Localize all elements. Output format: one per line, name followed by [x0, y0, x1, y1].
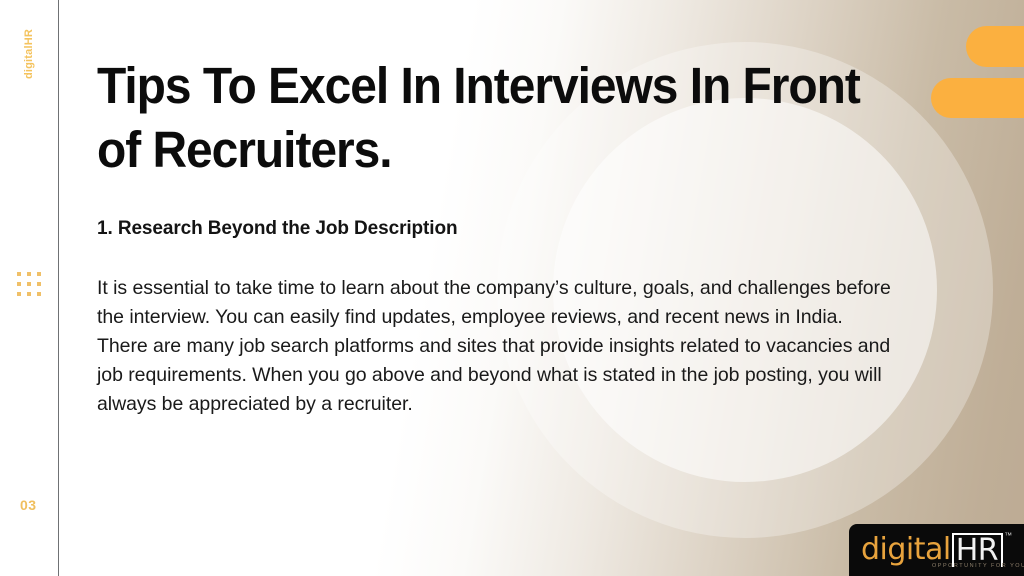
- logo-hr-box: HR: [952, 533, 1003, 567]
- dot: [37, 292, 41, 296]
- dot: [17, 292, 21, 296]
- dot: [17, 282, 21, 286]
- orange-pill-top-decoration: [966, 26, 1024, 67]
- orange-pill-bottom-decoration: [931, 78, 1024, 118]
- body-paragraph: It is essential to take time to learn ab…: [97, 274, 892, 419]
- logo-trademark-symbol: ™: [1004, 531, 1012, 540]
- presentation-slide: digitalHR 03 Tips To Excel In Interviews…: [0, 0, 1024, 576]
- dot: [27, 282, 31, 286]
- dot: [27, 292, 31, 296]
- slide-content: Tips To Excel In Interviews In Front of …: [97, 0, 937, 576]
- dot: [17, 272, 21, 276]
- slide-page-number: 03: [20, 497, 37, 513]
- dot: [37, 282, 41, 286]
- section-heading: 1. Research Beyond the Job Description: [97, 216, 797, 242]
- sidebar-divider-line: [58, 0, 59, 576]
- dot: [37, 272, 41, 276]
- slide-title: Tips To Excel In Interviews In Front of …: [97, 54, 887, 182]
- logo-tagline: OPPORTUNITY FOR YOU: [932, 563, 1024, 569]
- logo-digital-text: digital: [861, 532, 951, 567]
- dot-grid-icon: [17, 272, 45, 296]
- logo-wordmark: digitalHR™: [861, 530, 1011, 566]
- digitalhr-logo: digitalHR™ OPPORTUNITY FOR YOU: [849, 524, 1024, 576]
- dot: [27, 272, 31, 276]
- sidebar-vertical-brand-label: digitalHR: [23, 22, 35, 86]
